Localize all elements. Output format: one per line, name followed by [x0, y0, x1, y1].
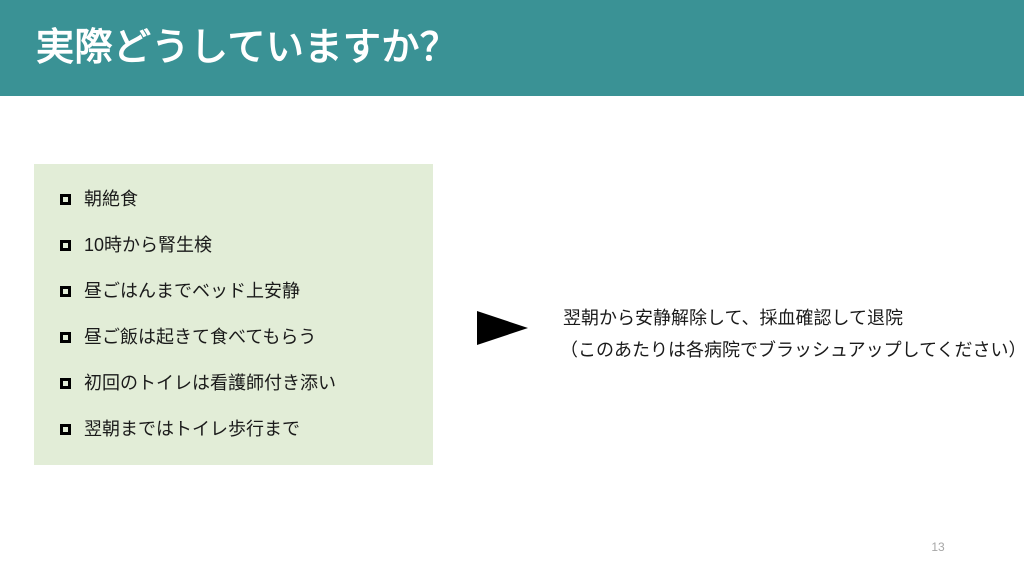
checkbox-square-icon — [60, 194, 71, 205]
callout-text-block: 翌朝から安静解除して、採血確認して退院 （このあたりは各病院でブラッシュアップし… — [563, 302, 1008, 366]
list-item: 昼ごはんまでベッド上安静 — [60, 279, 300, 303]
page-number: 13 — [925, 540, 951, 554]
checkbox-square-icon — [60, 240, 71, 251]
list-item-label: 昼ごはんまでベッド上安静 — [84, 279, 300, 303]
list-item: 10時から腎生検 — [60, 233, 212, 257]
list-item: 翌朝まではトイレ歩行まで — [60, 417, 300, 441]
checkbox-square-icon — [60, 332, 71, 343]
list-item-label: 翌朝まではトイレ歩行まで — [84, 417, 300, 441]
checkbox-square-icon — [60, 424, 71, 435]
list-item-label: 昼ご飯は起きて食べてもらう — [84, 325, 316, 349]
checkbox-square-icon — [60, 378, 71, 389]
callout-line-secondary: （このあたりは各病院でブラッシュアップしてください） — [560, 334, 1008, 366]
list-item: 昼ご飯は起きて食べてもらう — [60, 325, 316, 349]
list-item: 朝絶食 — [60, 187, 138, 211]
list-item-label: 10時から腎生検 — [84, 233, 212, 257]
page-title: 実際どうしていますか？ — [36, 0, 458, 96]
list-item: 初回のトイレは看護師付き添い — [60, 371, 336, 395]
checkbox-square-icon — [60, 286, 71, 297]
checklist-panel: 朝絶食 10時から腎生検 昼ごはんまでベッド上安静 昼ご飯は起きて食べてもらう … — [34, 164, 433, 465]
callout-line-primary: 翌朝から安静解除して、採血確認して退院 — [563, 302, 1008, 334]
list-item-label: 朝絶食 — [84, 187, 138, 211]
list-item-label: 初回のトイレは看護師付き添い — [84, 371, 336, 395]
arrow-right-icon — [477, 311, 528, 345]
checklist: 朝絶食 10時から腎生検 昼ごはんまでベッド上安静 昼ご飯は起きて食べてもらう … — [34, 164, 433, 465]
